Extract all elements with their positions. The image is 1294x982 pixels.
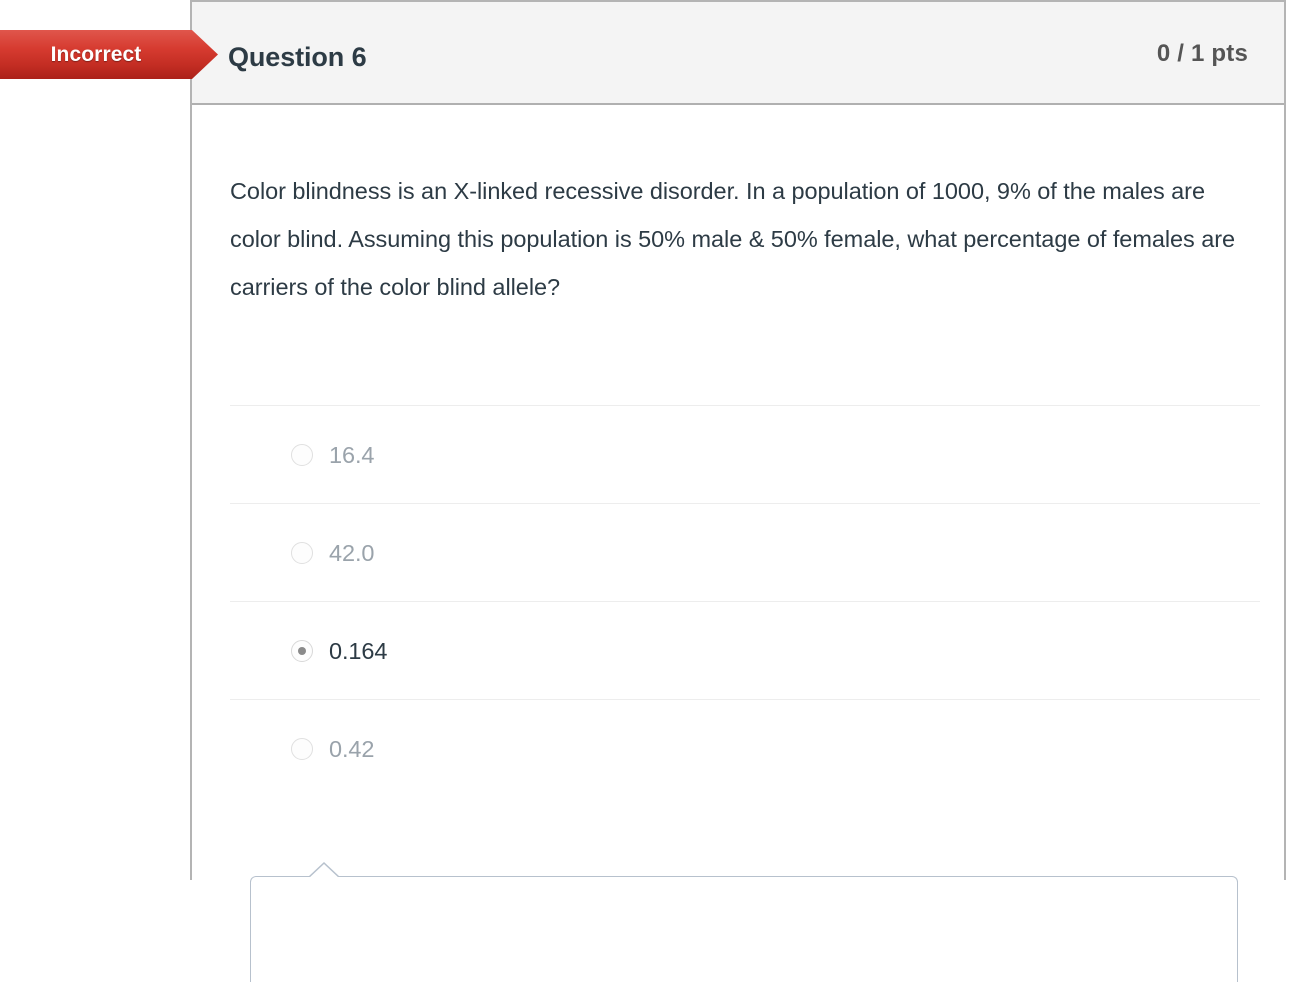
answer-option-row-selected[interactable]: 0.164 <box>230 601 1260 699</box>
feedback-callout <box>250 862 1238 982</box>
radio-button-icon[interactable] <box>291 542 313 564</box>
answer-option-row[interactable]: 16.4 <box>230 405 1260 503</box>
question-prompt-text: Color blindness is an X-linked recessive… <box>230 167 1254 311</box>
page-title: Question 6 <box>228 42 367 73</box>
answer-option-label: 0.164 <box>329 638 387 665</box>
answer-option-row[interactable]: 42.0 <box>230 503 1260 601</box>
radio-button-icon[interactable] <box>291 444 313 466</box>
answer-options-list: 16.4 42.0 0.164 0.42 <box>230 405 1260 797</box>
answer-option-row[interactable]: 0.42 <box>230 699 1260 797</box>
question-points: 0 / 1 pts <box>1157 40 1248 68</box>
question-header: Question 6 0 / 1 pts <box>192 0 1284 105</box>
callout-pointer-fill-icon <box>308 864 340 879</box>
radio-button-icon[interactable] <box>291 738 313 760</box>
answer-option-label: 16.4 <box>329 442 374 469</box>
status-badge: Incorrect <box>0 30 218 79</box>
answer-option-label: 42.0 <box>329 540 374 567</box>
answer-option-label: 0.42 <box>329 736 374 763</box>
radio-button-selected-icon[interactable] <box>291 640 313 662</box>
question-panel: Question 6 0 / 1 pts Color blindness is … <box>190 0 1286 880</box>
feedback-bubble <box>250 876 1238 982</box>
status-badge-label: Incorrect <box>0 30 192 79</box>
question-body: Color blindness is an X-linked recessive… <box>192 105 1284 880</box>
